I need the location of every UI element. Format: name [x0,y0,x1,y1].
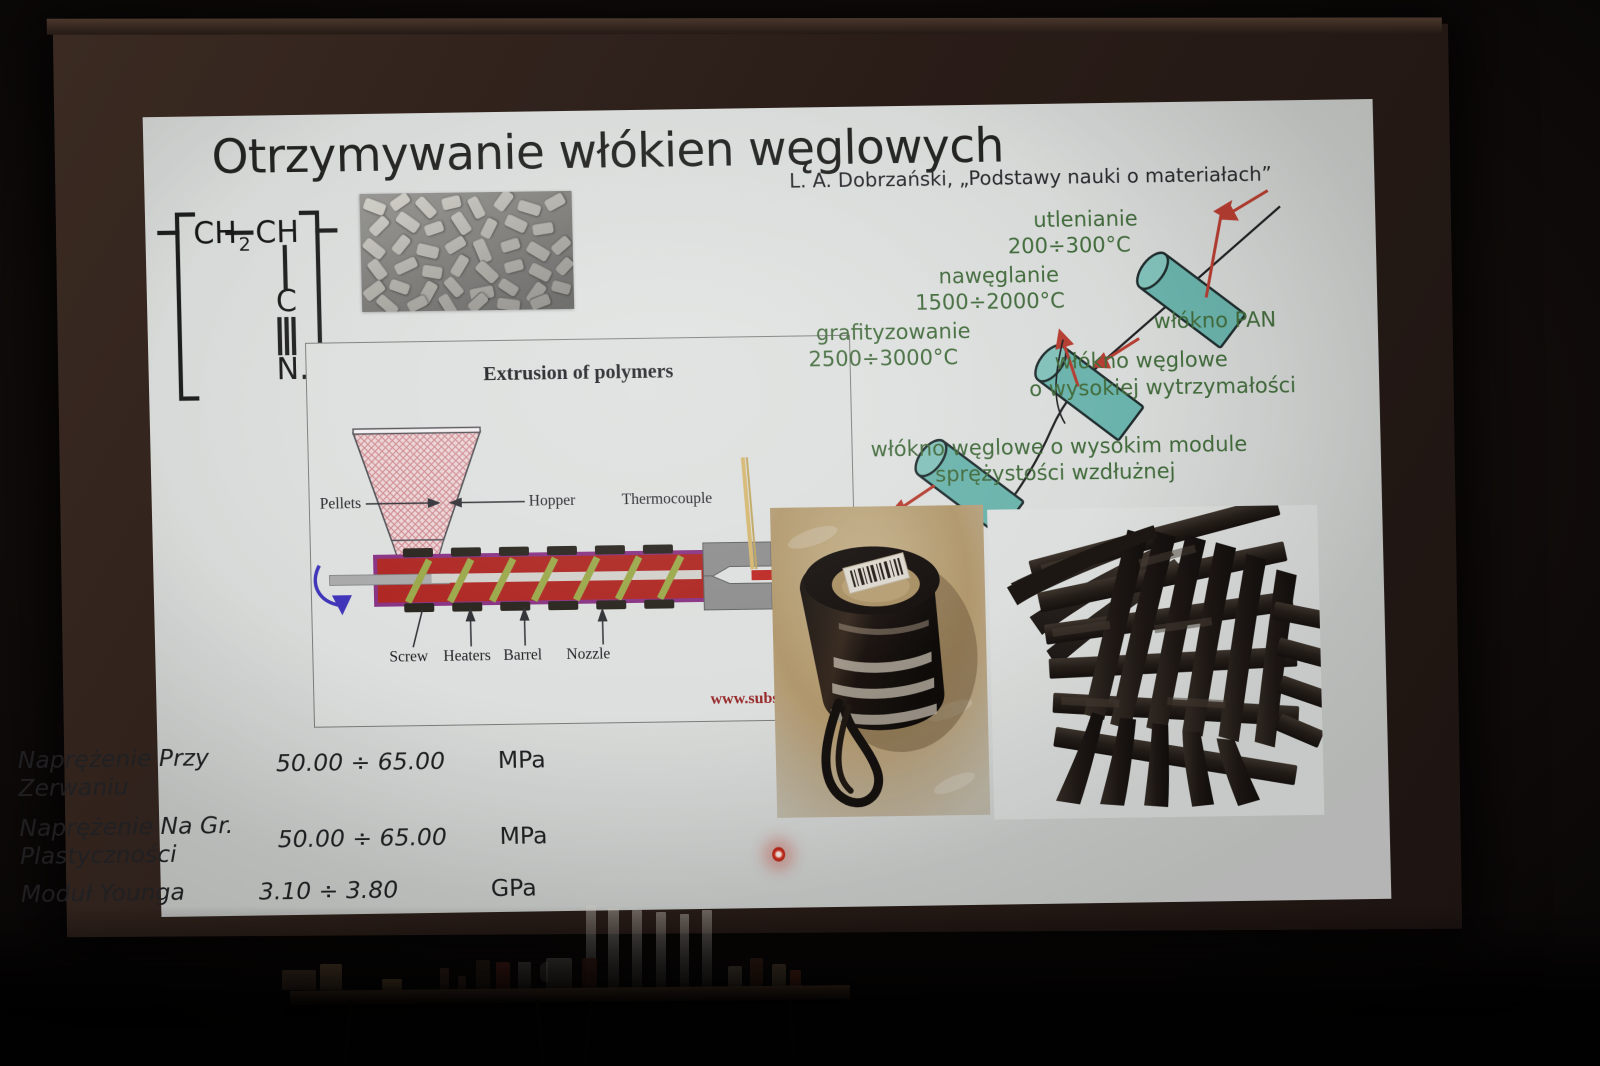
svg-text:C: C [276,284,298,319]
svg-text:CH: CH [255,215,299,251]
property-unit: MPa [498,745,546,774]
laser-pointer-dot [772,847,785,862]
process-step-label-grafityzowanie: grafityzowanie [816,320,971,346]
property-name: Moduł Younga [21,877,272,908]
process-step-temp-utlenianie: 200÷300°C [1008,234,1131,259]
property-name: Naprężenie Na Gr. Plastyczności [19,811,270,870]
extrusion-label-pellets: Pellets [320,495,362,514]
property-table: Naprężenie Przy Zerwaniu 50.00 ÷ 65.00 M… [17,738,661,921]
process-step-label-naweglanie: nawęglanie [938,264,1059,289]
property-name: Naprężenie Przy Zerwaniu [17,743,268,802]
property-value: 3.10 ÷ 3.80 [259,876,399,906]
table-row: Naprężenie Na Gr. Plastyczności 50.00 ÷ … [19,806,660,875]
carbon-fiber-spool-photo [770,505,990,818]
projected-slide: Otrzymywanie włókien węglowych [143,99,1392,917]
extrusion-label-barrel: Barrel [503,646,542,665]
polymer-pellets-photo [359,191,574,312]
photograph-scene: Otrzymywanie włókien węglowych [0,0,1600,1066]
woven-carbon-fabric-photo [987,505,1324,820]
process-step-temp-naweglanie: 1500÷2000°C [915,290,1065,316]
product-label-sprezystosc: sprężystości wzdłużnej [935,460,1176,487]
property-value: 50.00 ÷ 65.00 [277,823,447,854]
svg-text:N: N [276,352,299,387]
extrusion-label-hopper: Hopper [529,492,576,511]
extrusion-label-heaters: Heaters [443,647,491,666]
extrusion-label-screw: Screw [389,648,428,667]
svg-text:CH: CH [193,216,237,252]
property-unit: GPa [491,873,537,902]
foreground-darkness [0,906,1600,1066]
product-label-wlokno-pan: włókno PAN [1153,308,1276,333]
product-label-wysoka-wytrzymalosc: o wysokiej wytrzymałości [1029,374,1296,401]
extrusion-label-thermocouple: Thermocouple [622,490,713,509]
product-label-wlokno-weglowe: włókno węglowe [1054,348,1228,374]
process-step-temp-grafityzowanie: 2500÷3000°C [808,346,958,372]
svg-text:2: 2 [238,234,251,256]
extrusion-label-nozzle: Nozzle [566,645,610,664]
table-row: Naprężenie Przy Zerwaniu 50.00 ÷ 65.00 M… [17,738,658,803]
process-step-label-utlenianie: utlenianie [1033,207,1138,232]
property-unit: MPa [499,821,547,850]
property-value: 50.00 ÷ 65.00 [276,747,446,778]
